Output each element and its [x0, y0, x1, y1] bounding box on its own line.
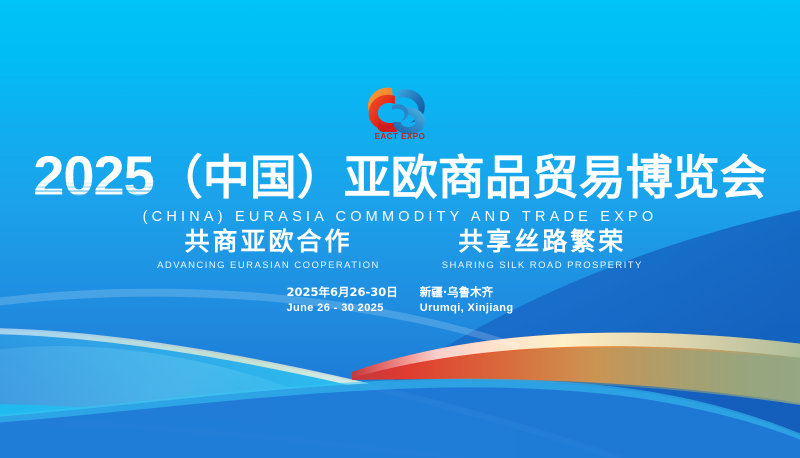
place-cn: 新疆·乌鲁木齐 [420, 285, 514, 301]
slogan-item: 共商亚欧合作 ADVANCING EURASIAN COOPERATION [157, 228, 380, 271]
slogan-cn: 共享丝路繁荣 [442, 228, 643, 256]
headline-block: 2025 （中国）亚欧商品贸易博览会 (CHINA) EURASIA COMMO… [0, 148, 800, 225]
expo-poster: EACT EXPO 2025 （中国）亚欧商品贸易博览会 (CHINA) EUR… [0, 0, 800, 458]
slogan-cn: 共商亚欧合作 [157, 228, 380, 256]
slogan-en: SHARING SILK ROAD PROSPERITY [442, 260, 643, 271]
bottom-thin-highlight [0, 418, 470, 458]
title-cn: （中国）亚欧商品贸易博览会 [156, 155, 767, 202]
place-en: Urumqi, Xinjiang [420, 301, 514, 316]
meta-block: 2025年6月26-30日 June 26 - 30 2025 新疆·乌鲁木齐 … [0, 285, 800, 315]
slogan-en: ADVANCING EURASIAN COOPERATION [157, 260, 380, 271]
eact-expo-logo-icon: EACT EXPO [352, 82, 448, 142]
soft-glow-shape [0, 346, 430, 458]
cyan-wave-highlight [0, 328, 622, 458]
lower-cyan-sliver [0, 404, 470, 458]
date-cn: 2025年6月26-30日 [286, 285, 397, 301]
front-blue-wave [0, 381, 800, 458]
date-en: June 26 - 30 2025 [286, 301, 397, 316]
ribbon-shade [352, 348, 800, 408]
logo-block: EACT EXPO [0, 82, 800, 142]
date-column: 2025年6月26-30日 June 26 - 30 2025 [286, 285, 397, 315]
ribbon-top-highlight [352, 333, 800, 378]
slogan-block: 共商亚欧合作 ADVANCING EURASIAN COOPERATION 共享… [0, 228, 800, 271]
title-en: (CHINA) EURASIA COMMODITY AND TRADE EXPO [0, 209, 800, 225]
title-row: 2025 （中国）亚欧商品贸易博览会 [0, 148, 800, 202]
red-orange-ribbon [352, 333, 800, 406]
cyan-wave-band [0, 330, 620, 458]
place-column: 新疆·乌鲁木齐 Urumqi, Xinjiang [420, 285, 514, 315]
year-text: 2025 [33, 150, 156, 202]
front-blue-wave-edge [0, 379, 800, 448]
logo-wordmark: EACT EXPO [375, 132, 426, 141]
slogan-item: 共享丝路繁荣 SHARING SILK ROAD PROSPERITY [442, 228, 643, 271]
